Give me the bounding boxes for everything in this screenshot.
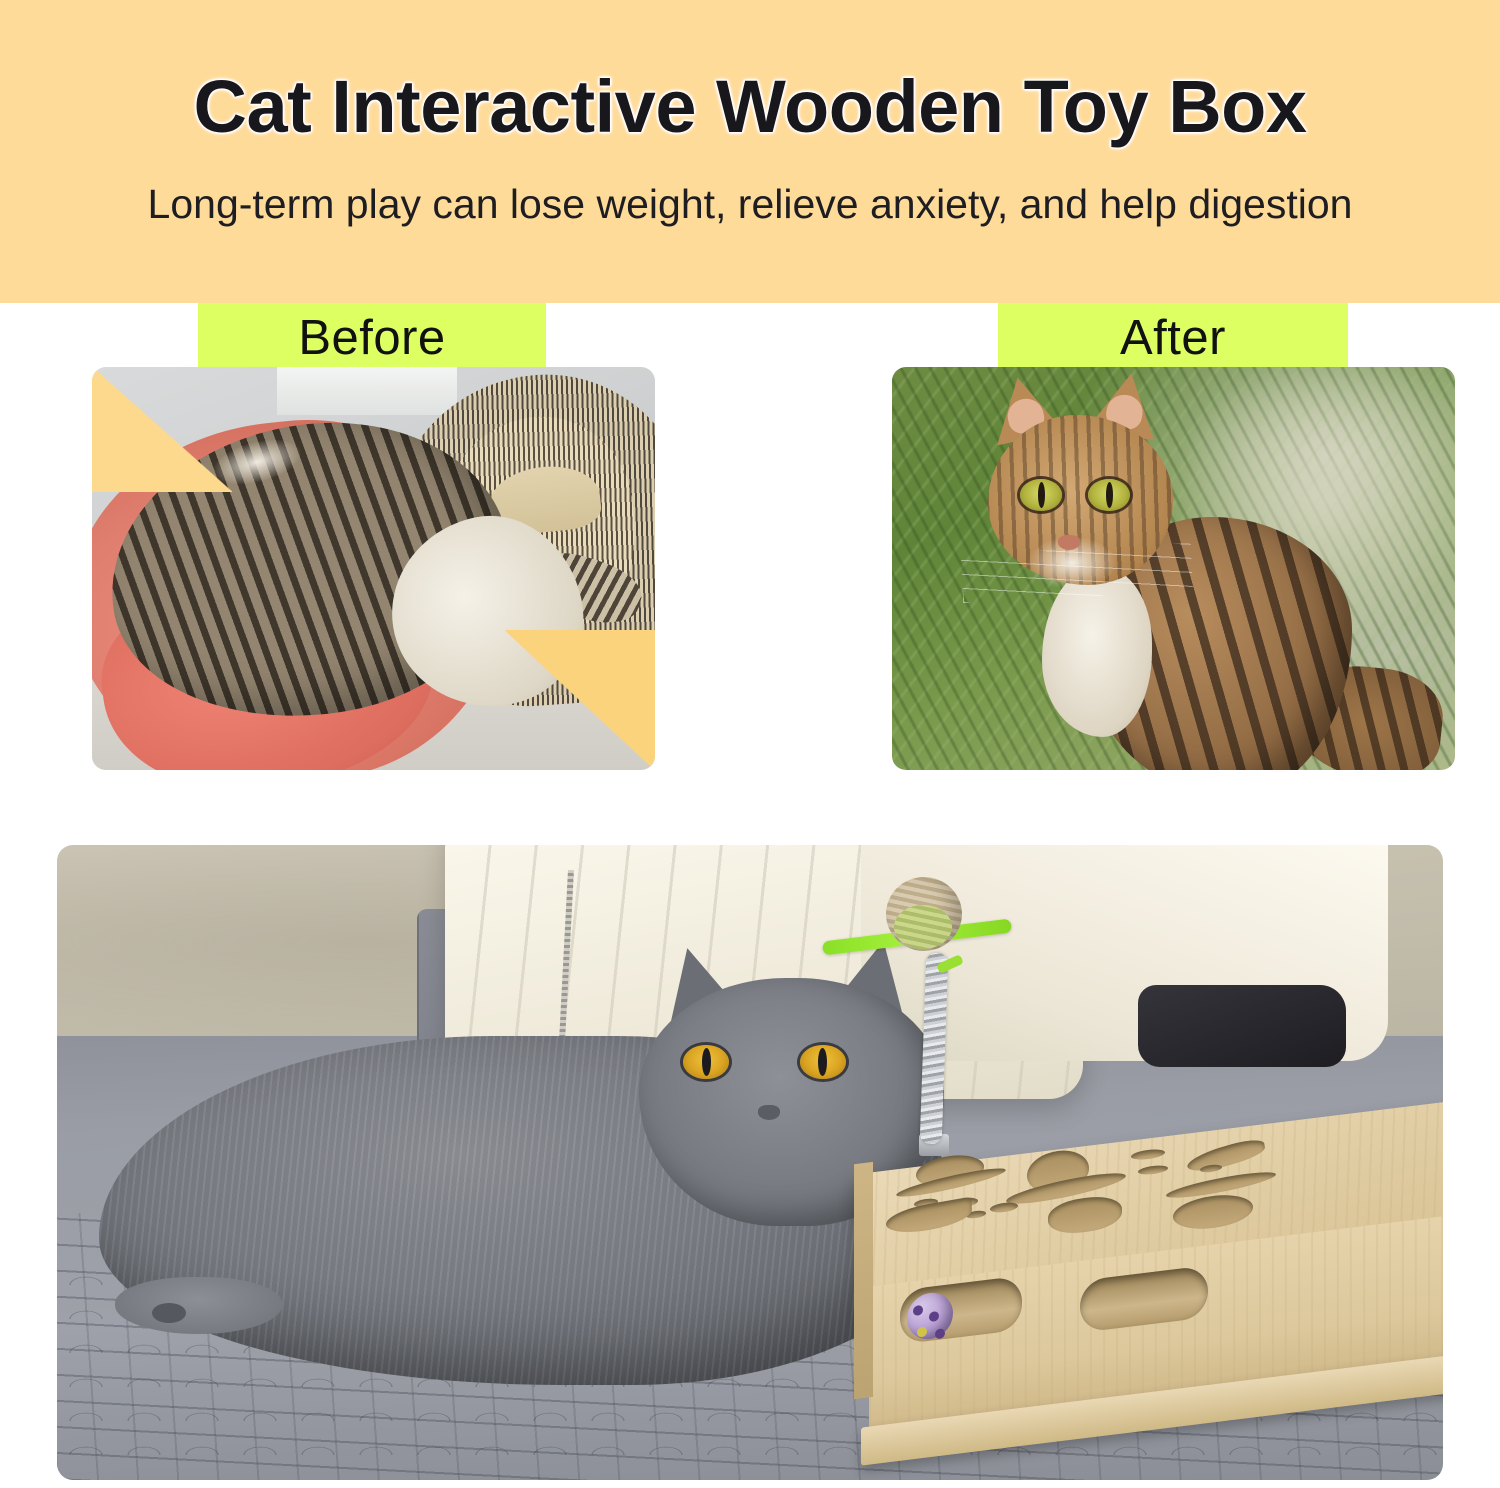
page-subtitle: Long-term play can lose weight, relieve … [0,182,1500,227]
slim-cat-nose [1058,535,1080,550]
corner-accent-top-left [92,367,232,492]
photo-after [892,367,1455,770]
black-fabric [1138,985,1346,1068]
photo-main-product [57,845,1443,1480]
corner-accent-bottom-right [505,630,655,770]
toy-box-left-side [854,1161,873,1398]
slim-cat-eye-right [1088,479,1130,511]
page-title: Cat Interactive Wooden Toy Box [0,70,1500,144]
slim-cat-eye-left [1020,479,1062,511]
grey-cat-eye-right [800,1045,846,1079]
before-window [277,367,457,415]
photo-before [92,367,655,770]
header-banner: Cat Interactive Wooden Toy Box Long-term… [0,0,1500,303]
grey-cat-front-paw [115,1277,281,1334]
label-after: After [998,303,1348,373]
label-before: Before [198,303,546,373]
